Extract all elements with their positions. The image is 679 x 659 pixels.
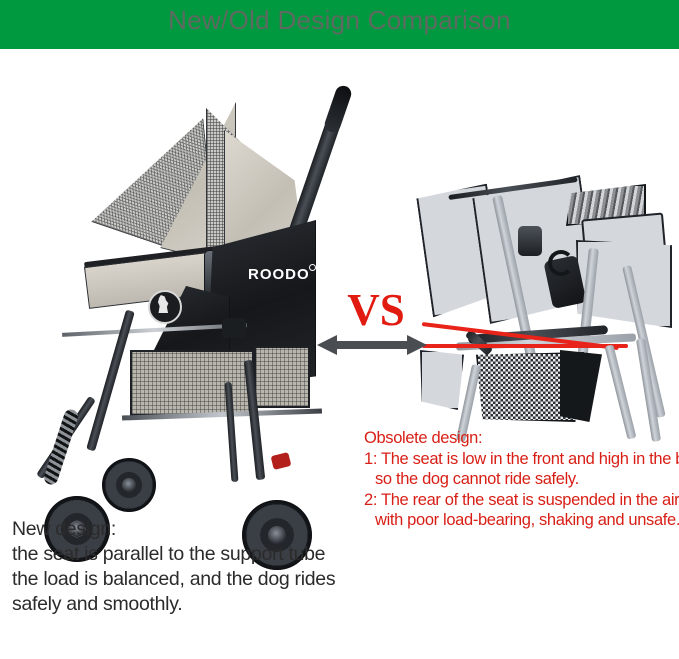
handlebar-grip xyxy=(323,84,354,135)
header-banner: New/Old Design Comparison xyxy=(0,0,679,49)
obsolete-design-caption-line-3: 2: The rear of the seat is suspended in … xyxy=(364,490,678,511)
old-basket-dark-backing xyxy=(560,350,602,422)
support-tube-clamp xyxy=(222,318,246,338)
new-design-caption-heading: New design: xyxy=(12,517,362,542)
vs-label: VS xyxy=(330,288,422,333)
brand-logo: ROODO xyxy=(248,266,310,283)
new-design-stroller-image: ROODO xyxy=(10,60,340,520)
obsolete-design-caption-heading: Obsolete design: xyxy=(364,428,678,449)
page-title: New/Old Design Comparison xyxy=(0,5,679,36)
brand-logo-registered-mark xyxy=(309,264,316,271)
obsolete-design-caption-line-2: so the dog cannot ride safely. xyxy=(364,469,678,490)
annotation-line-horizontal xyxy=(422,344,628,348)
brake-lever xyxy=(271,452,292,470)
obsolete-design-caption: Obsolete design: 1: The seat is low in t… xyxy=(364,428,678,531)
storage-basket xyxy=(130,350,254,416)
obsolete-design-caption-line-4: with poor load-bearing, shaking and unsa… xyxy=(364,510,678,531)
old-folding-hinge xyxy=(518,226,542,256)
new-design-caption-line-1: the seat is parallel to the support tube xyxy=(12,542,362,567)
old-hinge-hook xyxy=(548,250,574,276)
old-basket-side-flap xyxy=(420,350,464,410)
comparison-infographic: New/Old Design Comparison ROODO xyxy=(0,0,679,659)
old-rear-leg-left xyxy=(605,344,637,439)
storage-basket-rear xyxy=(254,346,310,408)
new-design-caption: New design: the seat is parallel to the … xyxy=(12,517,362,617)
double-headed-arrow-icon xyxy=(317,334,427,356)
wheel-front-upper-hub xyxy=(122,478,136,492)
suspension-coil xyxy=(42,408,79,487)
new-design-caption-line-3: safely and smoothly. xyxy=(12,592,362,617)
new-design-caption-line-2: the load is balanced, and the dog rides xyxy=(12,567,362,592)
obsolete-design-stroller-image xyxy=(420,188,675,438)
obsolete-design-caption-line-1: 1: The seat is low in the front and high… xyxy=(364,449,678,470)
